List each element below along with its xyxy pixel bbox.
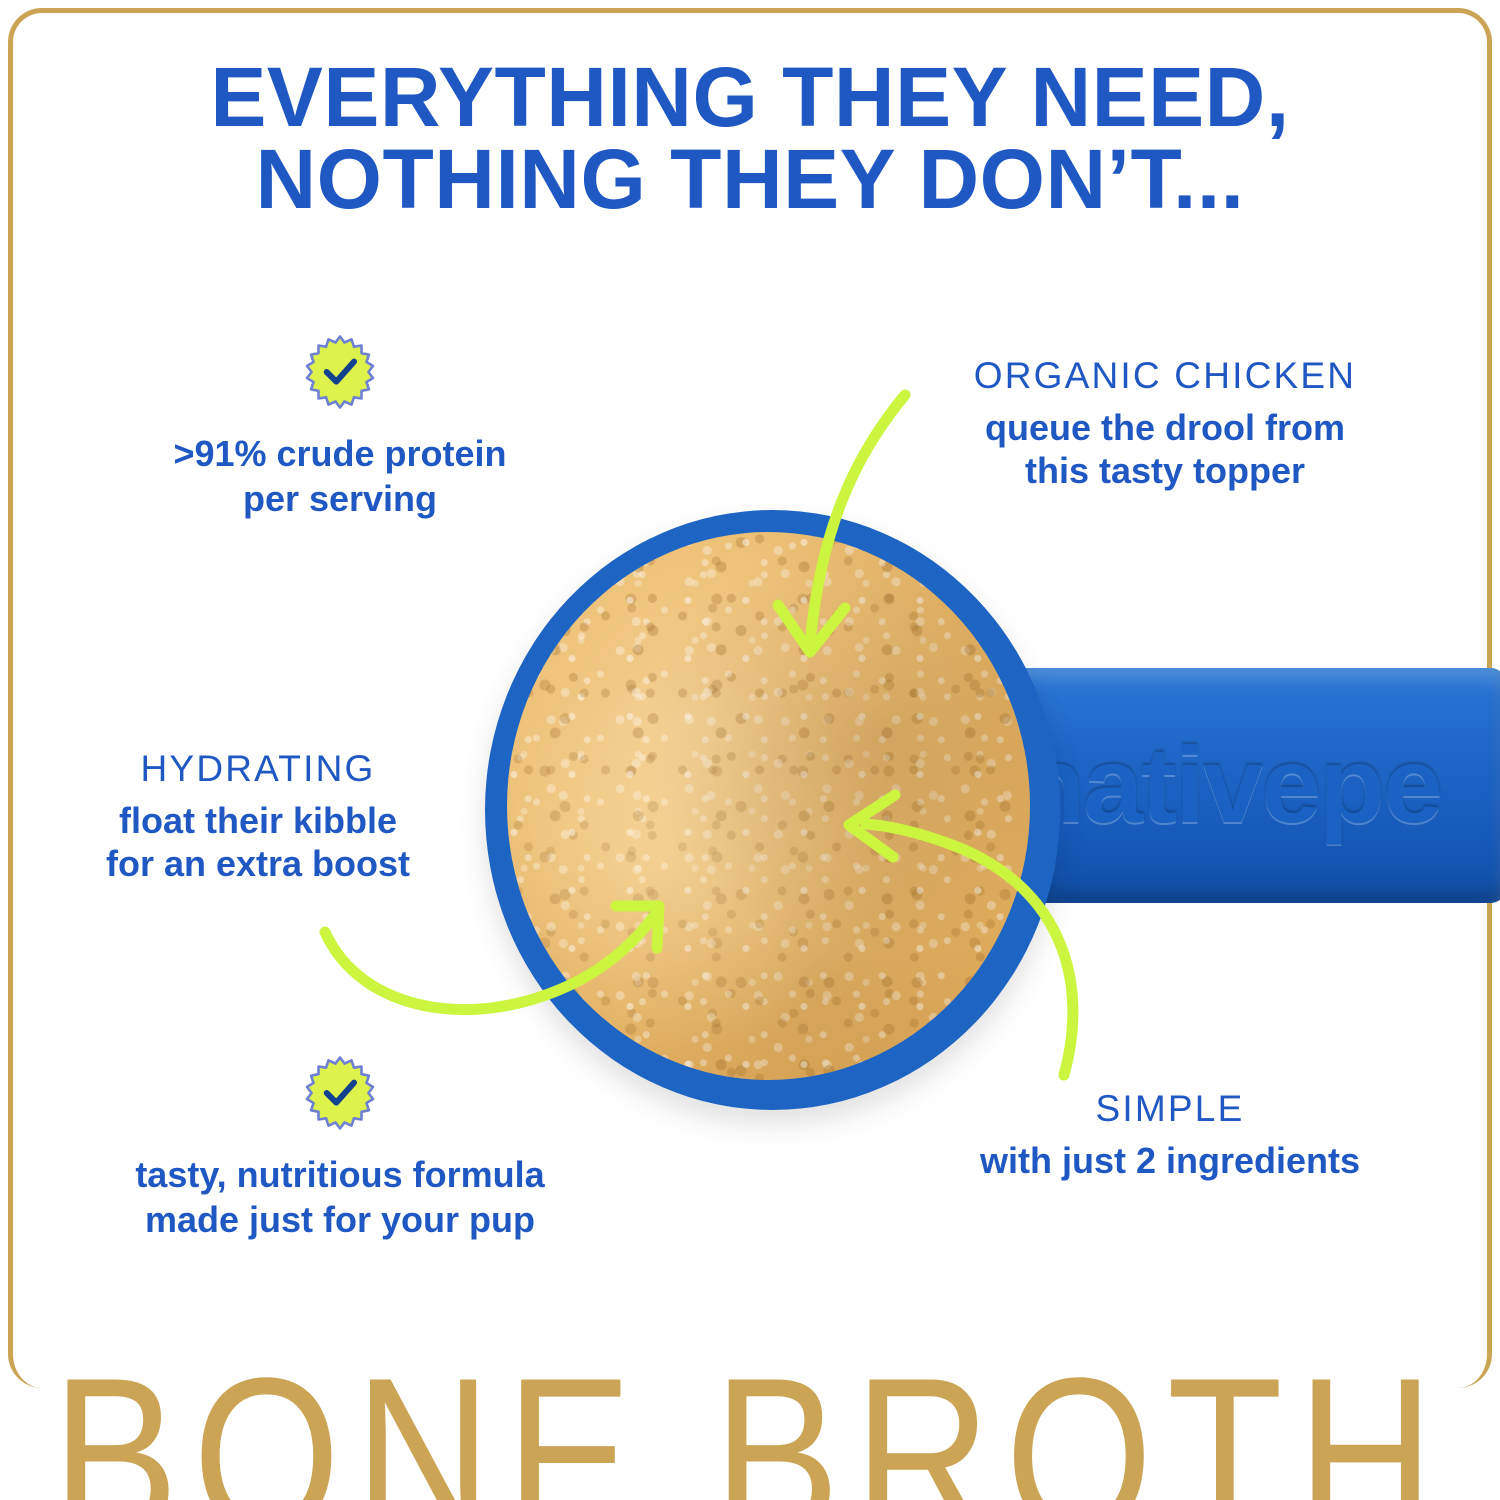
feature-organic-chicken-desc-line-1: queue the drool from (905, 406, 1425, 450)
feature-hydrating: HYDRATING float their kibble for an extr… (48, 748, 468, 886)
product-wordmark: BONE BROTH (0, 1345, 1500, 1500)
feature-simple-desc: with just 2 ingredients (940, 1139, 1400, 1183)
scoop-bowl (485, 510, 1060, 1110)
infographic-canvas: EVERYTHING THEY NEED, NOTHING THEY DON’T… (0, 0, 1500, 1500)
check-badge-icon (303, 1056, 377, 1130)
feature-crude-protein-desc-line-1: >91% crude protein (110, 431, 570, 476)
check-badge-wrap-tasty (110, 1056, 570, 1130)
feature-organic-chicken: ORGANIC CHICKEN queue the drool from thi… (905, 355, 1425, 493)
scoop-handle: nativepe (985, 668, 1500, 903)
check-badge-icon (303, 335, 377, 409)
check-badge-wrap-protein (110, 335, 570, 409)
bone-broth-powder (507, 532, 1030, 1080)
feature-hydrating-desc-line-2: for an extra boost (48, 842, 468, 886)
feature-simple: SIMPLE with just 2 ingredients (940, 1088, 1400, 1182)
feature-organic-chicken-kicker: ORGANIC CHICKEN (905, 355, 1425, 398)
headline-line-1: EVERYTHING THEY NEED, (210, 50, 1289, 144)
feature-simple-kicker: SIMPLE (940, 1088, 1400, 1131)
feature-crude-protein-desc-line-2: per serving (110, 476, 570, 521)
page-headline: EVERYTHING THEY NEED, NOTHING THEY DON’T… (0, 56, 1500, 221)
feature-tasty-formula-desc-line-2: made just for your pup (110, 1197, 570, 1242)
feature-hydrating-desc-line-1: float their kibble (48, 799, 468, 843)
feature-organic-chicken-desc: queue the drool from this tasty topper (905, 406, 1425, 494)
feature-organic-chicken-desc-line-2: this tasty topper (905, 449, 1425, 493)
scoop-brand-emboss: nativepe (1019, 720, 1500, 850)
feature-crude-protein: >91% crude protein per serving (110, 335, 570, 521)
product-scoop-image: nativepe (430, 500, 1500, 1130)
feature-tasty-formula-desc: tasty, nutritious formula made just for … (110, 1152, 570, 1242)
feature-hydrating-kicker: HYDRATING (48, 748, 468, 791)
feature-tasty-formula: tasty, nutritious formula made just for … (110, 1056, 570, 1242)
headline-line-2: NOTHING THEY DON’T... (0, 138, 1500, 220)
feature-hydrating-desc: float their kibble for an extra boost (48, 799, 468, 887)
feature-crude-protein-desc: >91% crude protein per serving (110, 431, 570, 521)
feature-simple-desc-line-1: with just 2 ingredients (940, 1139, 1400, 1183)
feature-tasty-formula-desc-line-1: tasty, nutritious formula (110, 1152, 570, 1197)
